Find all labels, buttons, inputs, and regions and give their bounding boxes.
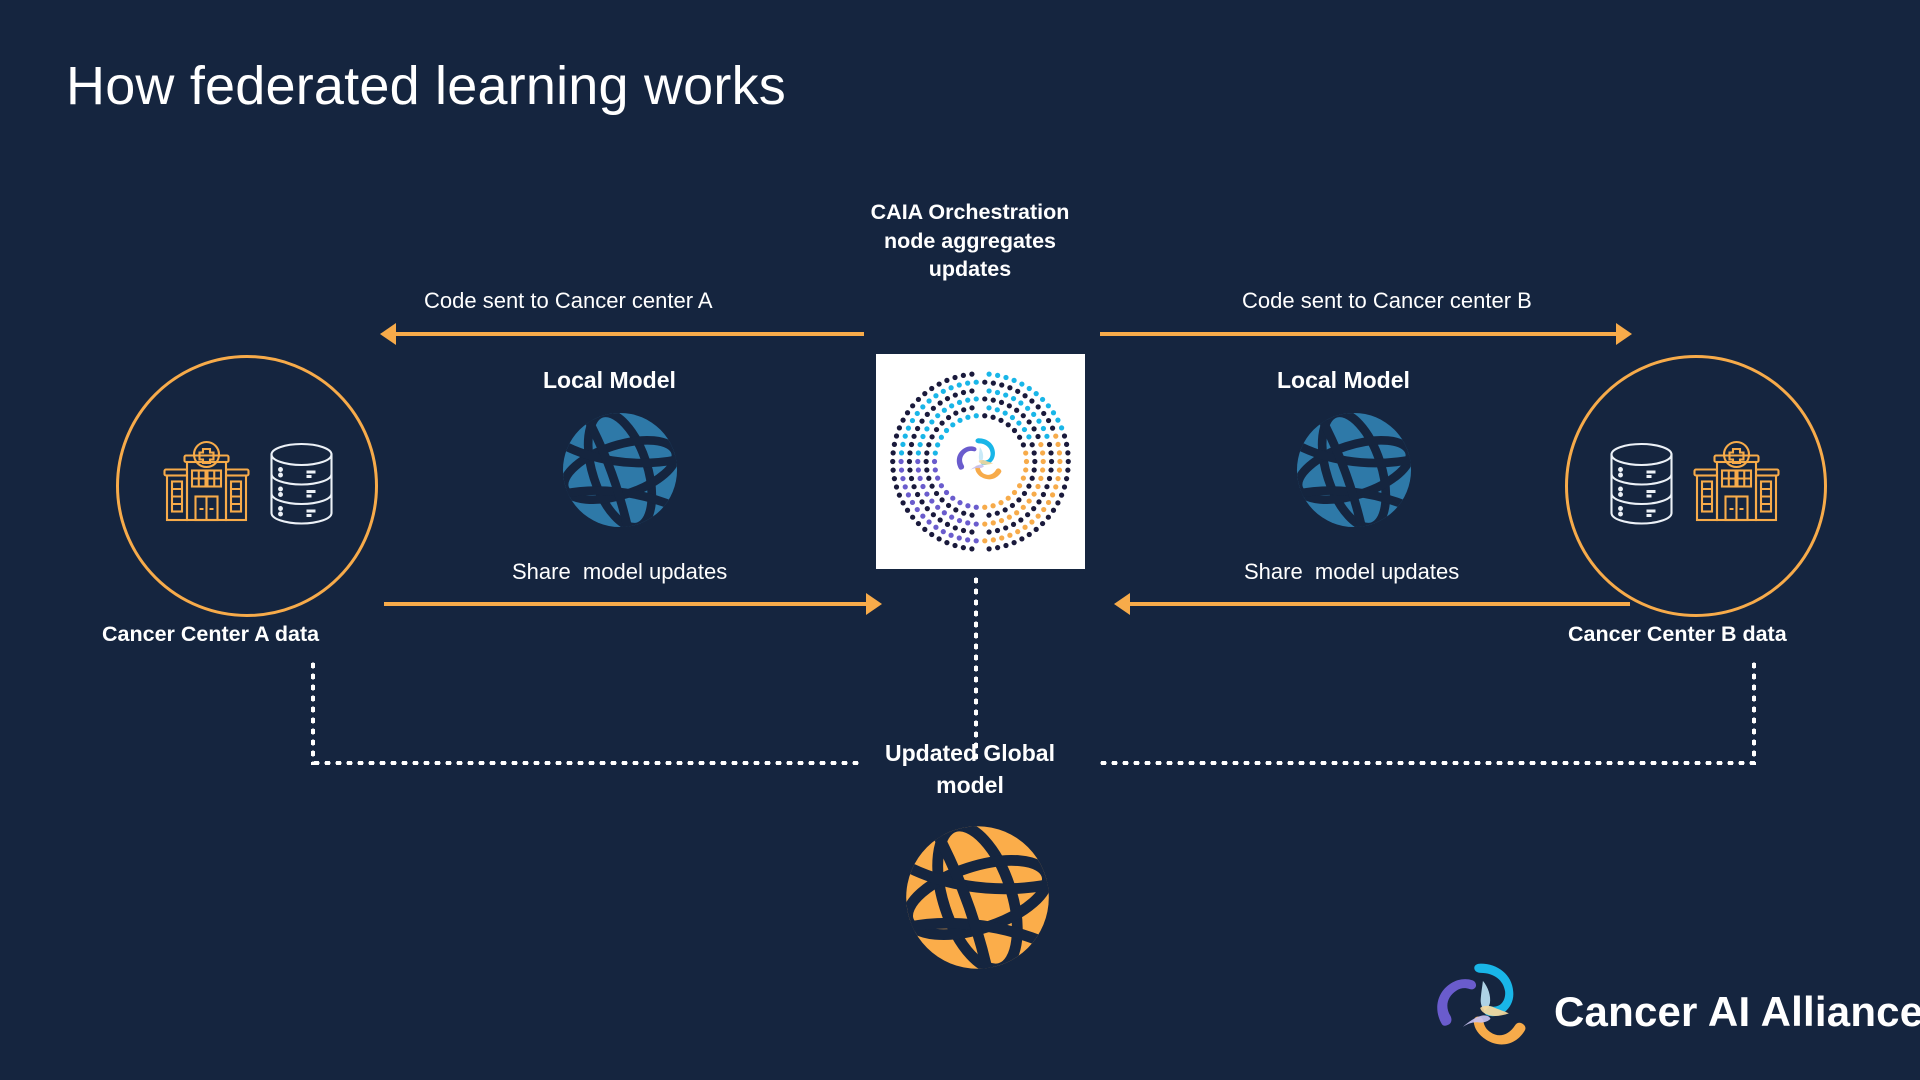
arrow-label-code-b: Code sent to Cancer center B bbox=[1242, 288, 1532, 314]
local-model-b-label: Local Model bbox=[1277, 367, 1410, 394]
dotted-connector-left-horizontal bbox=[311, 761, 859, 765]
globe-icon bbox=[558, 408, 682, 532]
arrow-line-code-a bbox=[396, 332, 864, 336]
dotted-connector-right-horizontal bbox=[1098, 761, 1756, 765]
three-hands-logo bbox=[1430, 955, 1538, 1068]
arrow-head-share-a bbox=[866, 593, 882, 615]
arrow-head-code-b bbox=[1616, 323, 1632, 345]
arrow-line-share-a bbox=[384, 602, 866, 606]
local-model-a-label: Local Model bbox=[543, 367, 676, 394]
updated-global-model-label: Updated Global model bbox=[855, 738, 1085, 801]
cancer-center-a-node bbox=[116, 355, 378, 617]
arrow-line-share-b bbox=[1130, 602, 1630, 606]
arrow-label-code-a: Code sent to Cancer center A bbox=[424, 288, 713, 314]
arrow-label-share-a: Share model updates bbox=[512, 559, 727, 585]
brand-lockup: Cancer AI Alliance bbox=[1430, 955, 1920, 1068]
arrow-head-share-b bbox=[1114, 593, 1130, 615]
dotted-connector-left-vertical bbox=[311, 660, 315, 765]
database-icon bbox=[1608, 442, 1676, 531]
orchestration-node-heading: CAIA Orchestration node aggregates updat… bbox=[855, 198, 1085, 284]
cancer-center-a-label: Cancer Center A data bbox=[102, 622, 319, 647]
database-icon bbox=[268, 442, 336, 531]
globe-icon bbox=[1292, 408, 1416, 532]
globe-icon bbox=[900, 820, 1055, 975]
diagram-canvas: How federated learning works CAIA Orches… bbox=[0, 0, 1920, 1080]
cancer-center-b-label: Cancer Center B data bbox=[1568, 622, 1787, 647]
cancer-center-b-node bbox=[1565, 355, 1827, 617]
page-title: How federated learning works bbox=[66, 55, 786, 117]
arrow-head-code-a bbox=[380, 323, 396, 345]
center-a-icons bbox=[159, 441, 336, 532]
dotted-connector-right-vertical bbox=[1752, 660, 1756, 765]
arrow-label-share-b: Share model updates bbox=[1244, 559, 1459, 585]
caia-dotted-ring-logo bbox=[876, 354, 1085, 569]
hospital-icon bbox=[1689, 441, 1785, 532]
dotted-connector-center-vertical bbox=[974, 575, 978, 760]
arrow-line-code-b bbox=[1100, 332, 1616, 336]
brand-name: Cancer AI Alliance bbox=[1554, 988, 1920, 1036]
center-b-icons bbox=[1608, 441, 1785, 532]
hospital-icon bbox=[159, 441, 255, 532]
